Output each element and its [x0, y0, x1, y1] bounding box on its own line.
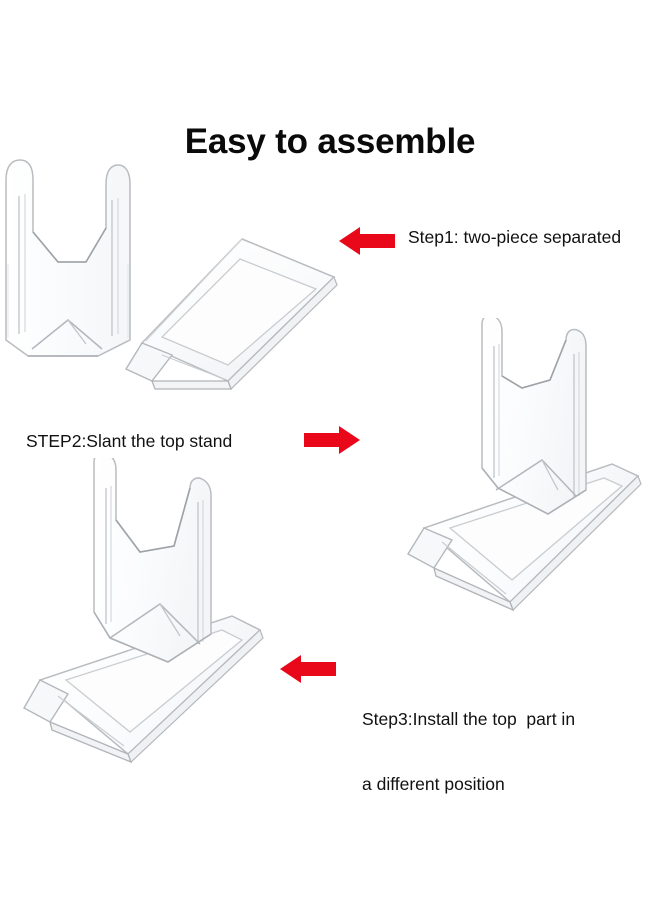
slanted-top-piece [482, 318, 586, 514]
caption-step1: Step1: two-piece separated [408, 227, 621, 249]
illustration-base-piece [124, 233, 342, 391]
arrow-right-icon-step2 [303, 423, 361, 457]
arrow-left-icon-step3 [279, 652, 337, 686]
product-instruction-image: Easy to assemble [0, 0, 660, 900]
caption-step3-line1: Step3:Install the top part in [362, 709, 575, 731]
illustration-stand-slanted [398, 318, 660, 612]
caption-step2: STEP2:Slant the top stand [26, 431, 232, 453]
caption-step3-line2: a different position [362, 774, 575, 796]
caption-step3: Step3:Install the top part in a differen… [362, 665, 575, 840]
illustration-stand-upright [18, 458, 284, 764]
arrow-left-icon-step1 [338, 224, 396, 258]
